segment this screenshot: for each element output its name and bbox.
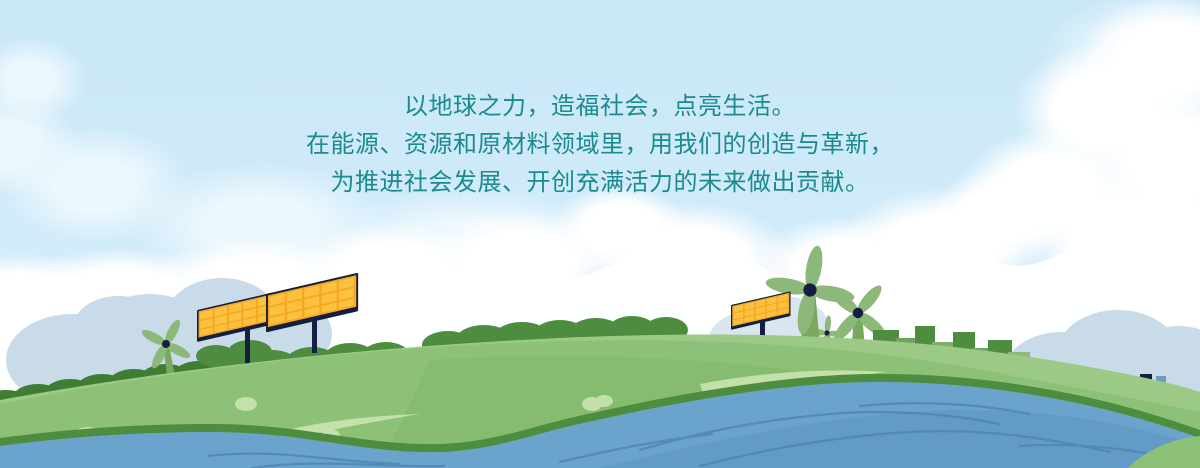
eco-banner: 以地球之力，造福社会，点亮生活。 在能源、资源和原材料领域里，用我们的创造与革新… [0, 0, 1200, 468]
illustration-scene [0, 0, 1200, 468]
